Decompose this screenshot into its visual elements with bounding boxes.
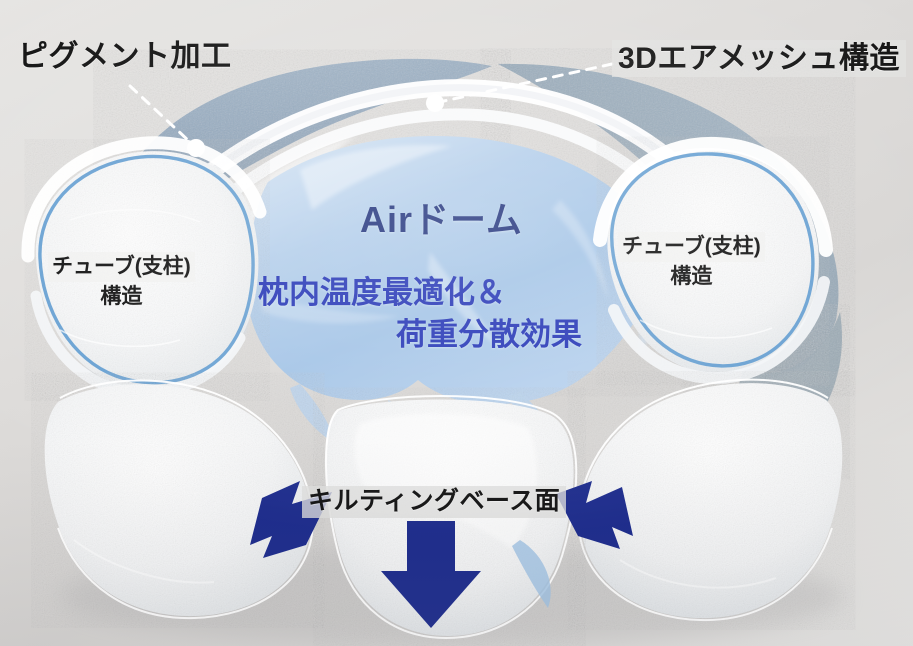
callout-pigment-label: ピグメント加工 [12,38,238,75]
leader-pigment-dot [187,139,205,157]
tube-left-label-line2: 構造 [48,282,195,312]
pillow-cutaway-figure: ピグメント加工 3Dエアメッシュ構造 キルティングベース面 チューブ(支柱) 構… [0,0,913,646]
tube-right-label-line2: 構造 [618,262,765,292]
air-dome-title: Airドーム [360,191,523,243]
leader-pigment [130,86,190,142]
tube-left-label-line1: チューブ(支柱) [48,252,195,282]
tube-right-label-line1: チューブ(支柱) [618,232,765,262]
tube-left-label: チューブ(支柱) 構造 [48,252,195,313]
air-dome-benefit-line1: 枕内温度最適化＆ [258,267,506,312]
callout-quilting-base-label: キルティングベース面 [302,486,566,518]
tube-right-label: チューブ(支柱) 構造 [618,232,765,293]
callout-air-mesh-label: 3Dエアメッシュ構造 [612,40,906,77]
leader-air-mesh-dot [426,94,444,112]
air-dome-benefit-line2: 荷重分散効果 [396,309,582,354]
